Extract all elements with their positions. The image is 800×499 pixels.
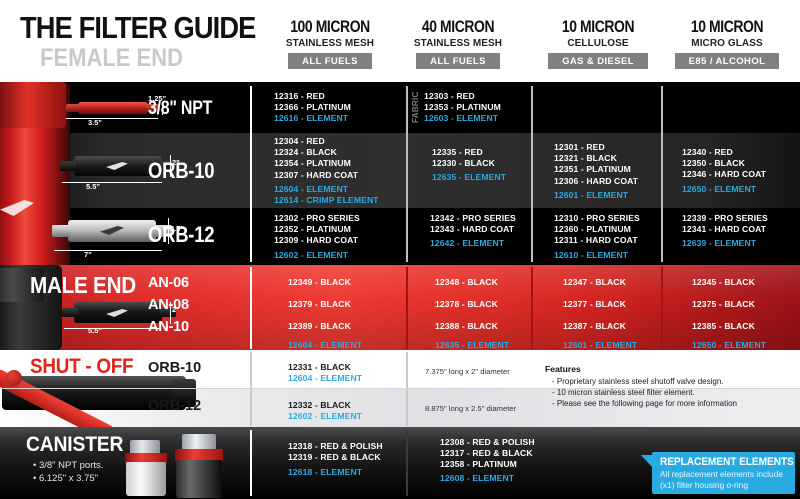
canister-bullet: • 6.125" x 3.75" bbox=[33, 473, 98, 484]
part-line: 12340 - RED bbox=[682, 147, 766, 158]
shutoff-element-orb10: 12604 - ELEMENT bbox=[288, 373, 362, 383]
column-divider-1 bbox=[250, 86, 252, 262]
female-end-subtitle: FEMALE END bbox=[40, 44, 183, 73]
part-line: 12339 - PRO SERIES bbox=[682, 213, 768, 224]
cell-an08-cellulose: 12377 - BLACK bbox=[563, 299, 626, 309]
part-line: 12303 - RED bbox=[424, 91, 501, 102]
replacement-title: REPLACEMENT ELEMENTS bbox=[660, 456, 794, 468]
cell-npt-40micron: 12303 - RED 12353 - PLATINUM 12603 - ELE… bbox=[424, 91, 501, 125]
shutoff-divider-2 bbox=[406, 352, 408, 426]
element-line: 12614 - CRIMP ELEMENT bbox=[274, 195, 379, 206]
male-end-title: MALE END bbox=[30, 272, 136, 299]
cell-orb10-cellulose: 12301 - RED 12321 - BLACK 12351 - PLATIN… bbox=[554, 142, 638, 201]
column-divider-2 bbox=[406, 86, 408, 262]
part-line: 12307 - HARD COAT bbox=[274, 170, 379, 181]
cell-an08-microglass: 12375 - BLACK bbox=[692, 299, 755, 309]
part-line: 12316 - RED bbox=[274, 91, 351, 102]
orb10-length-line bbox=[62, 182, 162, 183]
col4-media: MICRO GLASS bbox=[656, 37, 799, 49]
shutoff-divider-1 bbox=[250, 352, 252, 426]
canister-part-12358: 12358 - PLATINUM bbox=[440, 459, 517, 469]
part-line: 12360 - PLATINUM bbox=[554, 224, 640, 235]
cell-orb10-100micron: 12304 - RED 12324 - BLACK 12354 - PLATIN… bbox=[274, 136, 379, 206]
shutoff-title: SHUT - OFF bbox=[30, 355, 133, 379]
canister-polish-image bbox=[124, 440, 168, 496]
column-header-10-micron-cellulose: 10 MICRON CELLULOSE GAS & DIESEL bbox=[523, 18, 673, 69]
cell-element-100micron: 12604 - ELEMENT bbox=[288, 340, 362, 350]
cell-orb12-microglass: 12339 - PRO SERIES 12341 - HARD COAT 126… bbox=[682, 213, 768, 250]
cell-orb10-microglass: 12340 - RED 12350 - BLACK 12346 - HARD C… bbox=[682, 147, 766, 195]
cell-an08-40micron: 12378 - BLACK bbox=[435, 299, 498, 309]
canister-title: CANISTER bbox=[26, 433, 123, 457]
shutoff-part-orb10: 12331 - BLACK bbox=[288, 362, 351, 372]
part-line: 12311 - HARD COAT bbox=[554, 235, 640, 246]
part-line: 12321 - BLACK bbox=[554, 153, 638, 164]
element-line: 12602 - ELEMENT bbox=[274, 250, 360, 261]
page-title: THE FILTER GUIDE bbox=[20, 10, 255, 46]
element-line: 12650 - ELEMENT bbox=[682, 184, 766, 195]
element-line: 12610 - ELEMENT bbox=[554, 250, 640, 261]
canister-jar-2 bbox=[176, 460, 222, 498]
column-divider-3 bbox=[531, 86, 533, 262]
row-label-an08: AN-08 bbox=[148, 297, 189, 313]
red-filter-cap bbox=[0, 82, 66, 128]
element-line: 12635 - ELEMENT bbox=[432, 172, 506, 183]
col1-media: STAINLESS MESH bbox=[259, 37, 402, 49]
element-line: 12604 - ELEMENT bbox=[274, 184, 379, 195]
part-line: 12354 - PLATINUM bbox=[274, 158, 379, 169]
feature-item: - 10 micron stainless steel filter eleme… bbox=[552, 388, 695, 397]
cell-an10-cellulose: 12387 - BLACK bbox=[563, 321, 626, 331]
part-line: 12306 - HARD COAT bbox=[554, 176, 638, 187]
canister-product-images bbox=[118, 428, 238, 499]
column-header-10-micron-microglass: 10 MICRON MICRO GLASS E85 / ALCOHOL bbox=[652, 18, 800, 69]
npt-filter-end-left bbox=[66, 104, 80, 112]
part-line: 12352 - PLATINUM bbox=[274, 224, 360, 235]
feature-item: - Please see the following page for more… bbox=[552, 399, 737, 408]
row-label-an06: AN-06 bbox=[148, 275, 189, 291]
element-line: 12639 - ELEMENT bbox=[682, 238, 768, 249]
npt-filter-body bbox=[78, 102, 148, 114]
orb12-length-label: 7" bbox=[84, 250, 92, 259]
cell-orb12-100micron: 12302 - PRO SERIES 12352 - PLATINUM 1230… bbox=[274, 213, 360, 261]
shutoff-row-label-orb10: ORB-10 bbox=[148, 360, 201, 376]
canister-element-12618: 12618 - ELEMENT bbox=[288, 467, 362, 477]
features-title: Features bbox=[545, 364, 581, 374]
shutoff-dims-orb10: 7.375" long x 2" diameter bbox=[425, 367, 510, 376]
cell-npt-100micron: 12316 - RED 12366 - PLATINUM 12616 - ELE… bbox=[274, 91, 351, 125]
cell-an10-100micron: 12389 - BLACK bbox=[288, 321, 351, 331]
canister-black-image bbox=[174, 434, 224, 498]
part-line: 12346 - HARD COAT bbox=[682, 169, 766, 180]
orb10-length-label: 5.5" bbox=[86, 182, 100, 191]
canister-part-12318: 12318 - RED & POLISH bbox=[288, 441, 383, 451]
part-line: 12353 - PLATINUM bbox=[424, 102, 501, 113]
col4-micron: 10 MICRON bbox=[666, 18, 789, 36]
cell-an10-40micron: 12388 - BLACK bbox=[435, 321, 498, 331]
cell-an10-microglass: 12385 - BLACK bbox=[692, 321, 755, 331]
npt-length-label: 3.5" bbox=[88, 118, 102, 127]
part-line: 12351 - PLATINUM bbox=[554, 164, 638, 175]
part-line: 12309 - HARD COAT bbox=[274, 235, 360, 246]
col3-media: CELLULOSE bbox=[527, 37, 670, 49]
replacement-elements-callout: REPLACEMENT ELEMENTS All replacement ele… bbox=[652, 452, 795, 494]
part-line: 12350 - BLACK bbox=[682, 158, 766, 169]
part-line: 12342 - PRO SERIES bbox=[430, 213, 516, 224]
part-line: 12304 - RED bbox=[274, 136, 379, 147]
orb12-filter-end-left bbox=[52, 225, 70, 237]
part-line: 12330 - BLACK bbox=[432, 158, 506, 169]
cell-orb12-cellulose: 12310 - PRO SERIES 12360 - PLATINUM 1231… bbox=[554, 213, 640, 261]
canister-element-12608: 12608 - ELEMENT bbox=[440, 473, 514, 483]
cell-element-40micron: 12635 - ELEMENT bbox=[435, 340, 509, 350]
canister-part-12308: 12308 - RED & POLISH bbox=[440, 437, 535, 447]
aeromotive-logo-icon bbox=[0, 200, 34, 216]
feature-item: - Proprietary stainless steel shutoff va… bbox=[552, 377, 724, 386]
cell-orb10-40micron: 12335 - RED 12330 - BLACK 12635 - ELEMEN… bbox=[432, 147, 506, 184]
part-line: 12301 - RED bbox=[554, 142, 638, 153]
canister-part-12319: 12319 - RED & BLACK bbox=[288, 452, 381, 462]
col2-fuel-badge: ALL FUELS bbox=[416, 53, 500, 69]
cell-an06-cellulose: 12347 - BLACK bbox=[563, 277, 626, 287]
part-line: 12366 - PLATINUM bbox=[274, 102, 351, 113]
canister-bullet: • 3/8" NPT ports. bbox=[33, 460, 103, 471]
col3-fuel-badge: GAS & DIESEL bbox=[548, 53, 648, 69]
element-line: 12601 - ELEMENT bbox=[554, 190, 638, 201]
row-label-npt: 3/8" NPT bbox=[148, 98, 212, 120]
col1-fuel-badge: ALL FUELS bbox=[288, 53, 372, 69]
header-bar: THE FILTER GUIDE FEMALE END 100 MICRON S… bbox=[0, 0, 800, 82]
filter-guide-sheet: THE FILTER GUIDE FEMALE END 100 MICRON S… bbox=[0, 0, 800, 499]
cell-an06-microglass: 12345 - BLACK bbox=[692, 277, 755, 287]
male-column-divider-4 bbox=[661, 267, 663, 349]
row-label-orb10: ORB-10 bbox=[148, 158, 214, 184]
male-length-label: 5.5" bbox=[88, 326, 102, 335]
column-divider-4 bbox=[661, 86, 663, 262]
male-column-divider-1 bbox=[250, 267, 252, 349]
shutoff-knob bbox=[6, 370, 22, 386]
part-line: 12302 - PRO SERIES bbox=[274, 213, 360, 224]
shutoff-dims-orb12: 8.875" long x 2.5" diameter bbox=[425, 404, 516, 413]
cell-element-microglass: 12650 - ELEMENT bbox=[692, 340, 766, 350]
canister-divider-1 bbox=[250, 430, 252, 496]
element-line: 12642 - ELEMENT bbox=[430, 238, 516, 249]
cell-orb12-40micron: 12342 - PRO SERIES 12343 - HARD COAT 126… bbox=[430, 213, 516, 250]
part-line: 12310 - PRO SERIES bbox=[554, 213, 640, 224]
shutoff-row-label-orb12: ORB-12 bbox=[148, 398, 201, 414]
col2-media: STAINLESS MESH bbox=[387, 37, 530, 49]
orb10-filter-end-left bbox=[60, 161, 76, 171]
canister-part-12317: 12317 - RED & BLACK bbox=[440, 448, 533, 458]
callout-tail bbox=[641, 455, 653, 468]
part-line: 12324 - BLACK bbox=[274, 147, 379, 158]
shutoff-element-orb12: 12602 - ELEMENT bbox=[288, 411, 362, 421]
part-line: 12343 - HARD COAT bbox=[430, 224, 516, 235]
row-label-an10: AN-10 bbox=[148, 319, 189, 335]
canister-jar-1 bbox=[126, 462, 166, 496]
cell-an06-100micron: 12349 - BLACK bbox=[288, 277, 351, 287]
canister-divider-2 bbox=[406, 430, 408, 496]
shutoff-part-orb12: 12332 - BLACK bbox=[288, 400, 351, 410]
element-line: 12616 - ELEMENT bbox=[274, 113, 351, 124]
part-line: 12341 - HARD COAT bbox=[682, 224, 768, 235]
col3-micron: 10 MICRON bbox=[537, 18, 660, 36]
orb12-length-line bbox=[54, 250, 162, 251]
npt-length-line bbox=[66, 118, 158, 119]
cell-an08-100micron: 12379 - BLACK bbox=[288, 299, 351, 309]
replacement-body: All replacement elements include (x1) fi… bbox=[660, 469, 794, 490]
male-length-line bbox=[64, 328, 160, 329]
col2-micron: 40 MICRON bbox=[397, 18, 520, 36]
column-header-40-micron: 40 MICRON STAINLESS MESH ALL FUELS bbox=[383, 18, 533, 69]
male-column-divider-3 bbox=[531, 267, 533, 349]
cell-element-cellulose: 12601 - ELEMENT bbox=[563, 340, 637, 350]
part-line: 12335 - RED bbox=[432, 147, 506, 158]
fabric-tag: FABRIC bbox=[411, 89, 420, 123]
male-filter-end-left bbox=[62, 308, 78, 317]
cell-an06-40micron: 12348 - BLACK bbox=[435, 277, 498, 287]
col1-micron: 100 MICRON bbox=[269, 18, 392, 36]
element-line: 12603 - ELEMENT bbox=[424, 113, 501, 124]
male-column-divider-2 bbox=[406, 267, 408, 349]
col4-fuel-badge: E85 / ALCOHOL bbox=[675, 53, 780, 69]
row-label-orb12: ORB-12 bbox=[148, 222, 214, 248]
